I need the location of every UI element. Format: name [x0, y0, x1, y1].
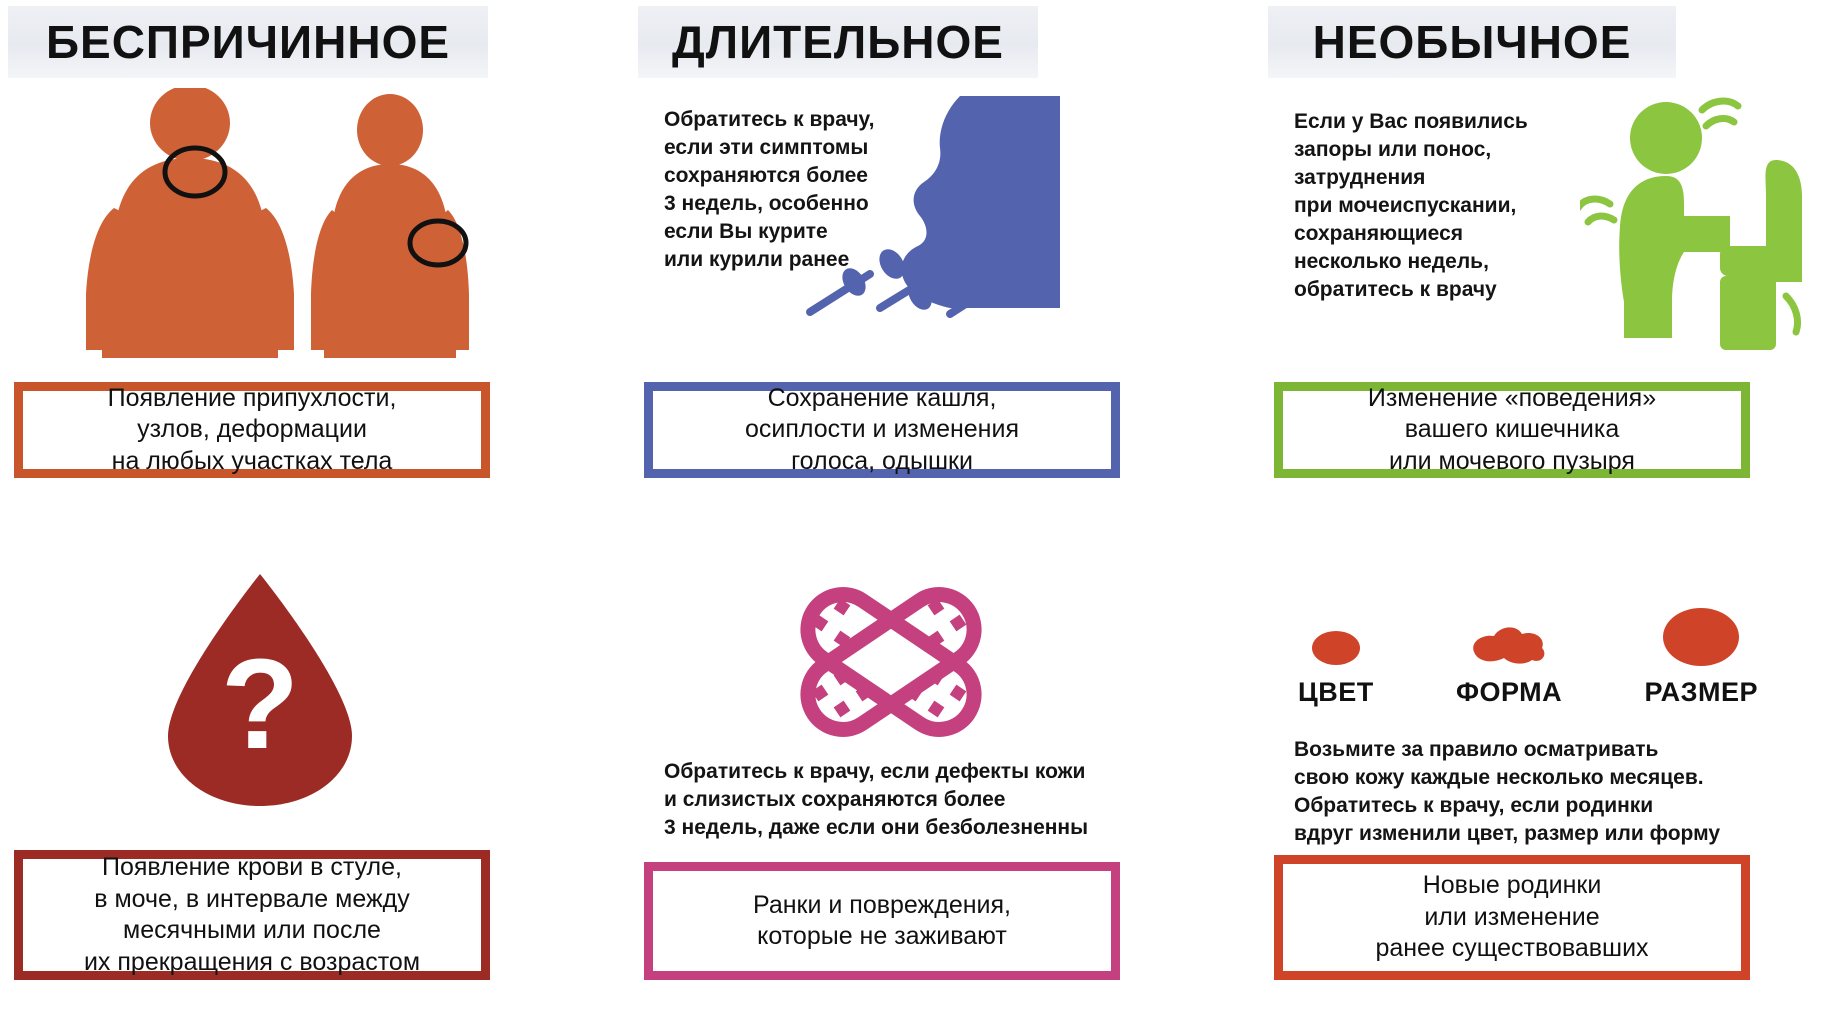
bowel-callout-box: Изменение «поведения» вашего кишечника и… [1274, 382, 1750, 478]
column-title-2: ДЛИТЕЛЬНОЕ [672, 15, 1004, 69]
mole-note-line-1: Возьмите за правило осматривать [1294, 736, 1794, 764]
bowel-note-line-1: Если у Вас появились [1294, 108, 1574, 136]
mole-label-shape: ФОРМА [1456, 677, 1562, 708]
cough-line-1: Сохранение кашля, [653, 383, 1111, 415]
svg-text:?: ? [221, 633, 299, 776]
mole-size-item: РАЗМЕР [1644, 606, 1758, 708]
wound-note-line-2: и слизистых сохраняются более [664, 786, 1174, 814]
column-title-1: БЕСПРИЧИННОЕ [46, 15, 450, 69]
bowel-note-line-3: затруднения [1294, 164, 1574, 192]
bowel-line-3: или мочевого пузыря [1283, 446, 1741, 478]
bowel-note-line-6: несколько недель, [1294, 248, 1574, 276]
blood-line-4: их прекращения с возрастом [23, 947, 481, 979]
mole-line-1: Новые родинки [1283, 870, 1741, 902]
mole-line-2: или изменение [1283, 902, 1741, 934]
wound-callout-box: Ранки и повреждения, которые не заживают [644, 862, 1120, 980]
lump-callout-box: Появление припухлости, узлов, деформации… [14, 382, 490, 478]
mole-note-line-2: свою кожу каждые несколько месяцев. [1294, 764, 1794, 792]
infographic-page: БЕСПРИЧИННОЕ ДЛИТЕЛЬНОЕ НЕОБЫЧНОЕ [0, 0, 1824, 1032]
column-header-2: ДЛИТЕЛЬНОЕ [638, 6, 1038, 78]
person-on-toilet-icon [1580, 96, 1810, 356]
crossed-bandages-icon [770, 575, 1010, 760]
coughing-mouth-icon [800, 96, 1060, 346]
mole-note-line-4: вдруг изменили цвет, размер или форму [1294, 820, 1794, 848]
mole-label-color: ЦВЕТ [1298, 677, 1374, 708]
lump-line-2: узлов, деформации [23, 414, 481, 446]
bowel-note-line-5: сохраняющиеся [1294, 220, 1574, 248]
column-header-1: БЕСПРИЧИННОЕ [8, 6, 488, 78]
blood-drop-question-icon: ? [150, 570, 370, 810]
mole-label-size: РАЗМЕР [1644, 677, 1758, 708]
mole-note-line-3: Обратитесь к врачу, если родинки [1294, 792, 1794, 820]
two-human-silhouettes-icon [40, 88, 500, 358]
wound-note-line-1: Обратитесь к врачу, если дефекты кожи [664, 758, 1174, 786]
bowel-line-1: Изменение «поведения» [1283, 383, 1741, 415]
bowel-note: Если у Вас появились запоры или понос, з… [1294, 108, 1574, 303]
cough-callout-box: Сохранение кашля, осиплости и изменения … [644, 382, 1120, 478]
column-header-3: НЕОБЫЧНОЕ [1268, 6, 1676, 78]
wound-note-line-3: 3 недель, даже если они безболезненны [664, 814, 1174, 842]
lump-line-1: Появление припухлости, [23, 383, 481, 415]
mole-callout-box: Новые родинки или изменение ранее сущест… [1274, 855, 1750, 980]
lump-line-3: на любых участках тела [23, 446, 481, 478]
cough-line-2: осиплости и изменения [653, 414, 1111, 446]
cough-line-3: голоса, одышки [653, 446, 1111, 478]
blood-line-2: в моче, в интервале между [23, 884, 481, 916]
bowel-note-line-7: обратитесь к врачу [1294, 276, 1574, 304]
mole-line-3: ранее существовавших [1283, 933, 1741, 965]
wound-line-1: Ранки и повреждения, [653, 890, 1111, 922]
blood-line-3: месячными или после [23, 915, 481, 947]
wound-note: Обратитесь к врачу, если дефекты кожи и … [664, 758, 1174, 842]
mole-variants-icon: ЦВЕТ ФОРМА РАЗМЕР [1298, 598, 1758, 708]
mole-note: Возьмите за правило осматривать свою кож… [1294, 736, 1794, 848]
bowel-note-line-4: при мочеиспускании, [1294, 192, 1574, 220]
column-title-3: НЕОБЫЧНОЕ [1313, 15, 1632, 69]
mole-color-item: ЦВЕТ [1298, 618, 1374, 708]
bowel-line-2: вашего кишечника [1283, 414, 1741, 446]
wound-line-2: которые не заживают [653, 921, 1111, 953]
blood-callout-box: Появление крови в стуле, в моче, в интер… [14, 850, 490, 980]
bowel-note-line-2: запоры или понос, [1294, 136, 1574, 164]
mole-shape-item: ФОРМА [1456, 618, 1562, 708]
blood-line-1: Появление крови в стуле, [23, 852, 481, 884]
